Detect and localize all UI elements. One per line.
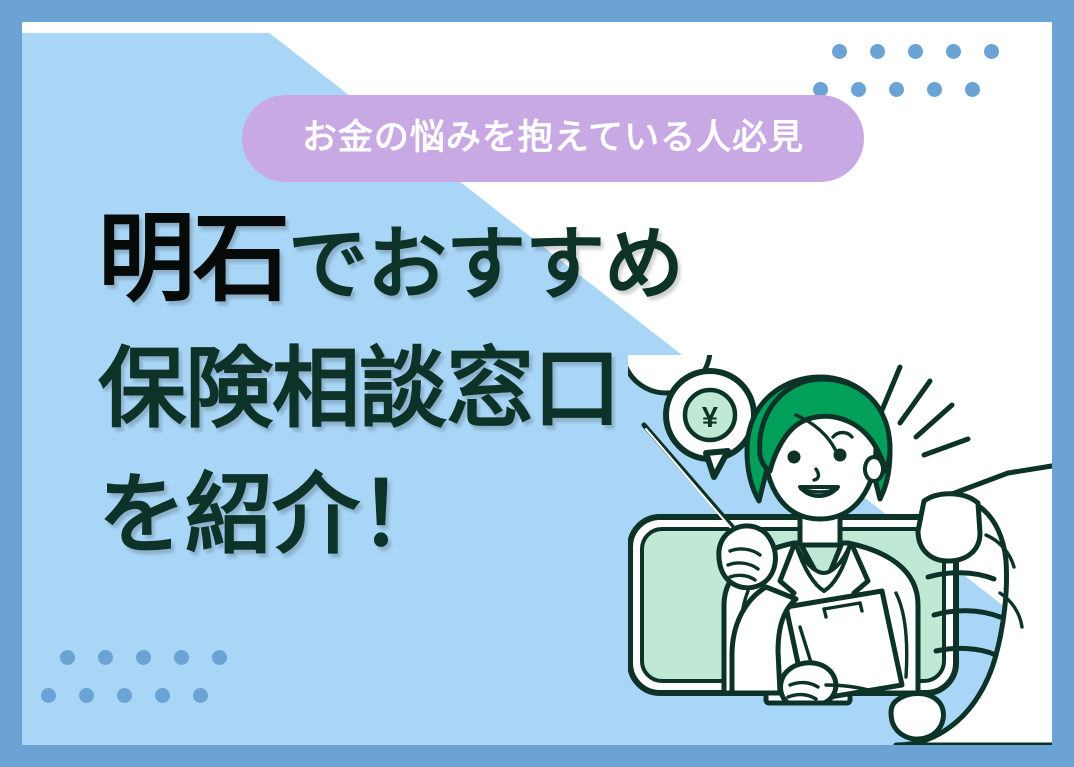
dot bbox=[155, 688, 170, 703]
dot bbox=[79, 688, 94, 703]
headline-line-1-suffix: でおすすめ bbox=[288, 220, 683, 309]
yen-symbol: ¥ bbox=[702, 402, 718, 434]
dot bbox=[98, 650, 113, 665]
inner-card: お金の悩みを抱えている人必見 明石でおすすめ 保険相談窓口 を紹介！ .ln{f… bbox=[22, 22, 1052, 745]
dot-grid-top-right bbox=[832, 44, 1022, 97]
headline-line-2-text: 保険相談窓口 bbox=[98, 339, 620, 438]
dot bbox=[193, 688, 208, 703]
dot bbox=[136, 650, 151, 665]
headline-city-name: 明石 bbox=[98, 204, 288, 313]
headline-line-3-text: を紹介！ bbox=[98, 465, 446, 564]
left-eye bbox=[788, 451, 801, 464]
dot bbox=[832, 44, 847, 59]
dot bbox=[946, 44, 961, 59]
advisor-illustration: .ln{fill:none;stroke:#0d3329;stroke-widt… bbox=[628, 355, 1052, 745]
right-eye bbox=[834, 449, 847, 462]
lower-thumb bbox=[891, 694, 943, 740]
dot bbox=[212, 650, 227, 665]
thumb bbox=[918, 494, 980, 561]
thumbnail-canvas: お金の悩みを抱えている人必見 明石でおすすめ 保険相談窓口 を紹介！ .ln{f… bbox=[0, 0, 1074, 767]
yen-speech-bubble-icon: ¥ bbox=[628, 355, 754, 477]
emphasis-lines-icon bbox=[880, 367, 968, 455]
dot bbox=[60, 650, 75, 665]
dot bbox=[41, 688, 56, 703]
dot bbox=[174, 650, 189, 665]
dot bbox=[984, 44, 999, 59]
dot bbox=[117, 688, 132, 703]
left-hand bbox=[719, 526, 776, 588]
catchphrase-text: お金の悩みを抱えている人必見 bbox=[302, 120, 804, 157]
dot bbox=[889, 82, 904, 97]
headline-line-1: 明石でおすすめ bbox=[98, 210, 798, 307]
dot bbox=[851, 82, 866, 97]
dot bbox=[965, 82, 980, 97]
dot-grid-bottom-left bbox=[60, 650, 250, 703]
dot bbox=[927, 82, 942, 97]
catchphrase-badge: お金の悩みを抱えている人必見 bbox=[242, 95, 864, 182]
dot bbox=[870, 44, 885, 59]
dot bbox=[908, 44, 923, 59]
